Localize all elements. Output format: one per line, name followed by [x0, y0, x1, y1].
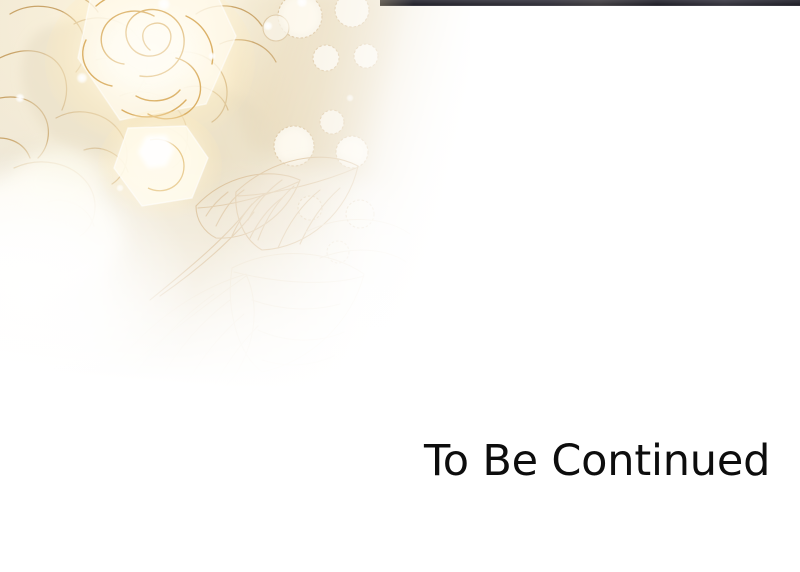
to-be-continued-caption: To Be Continued [424, 440, 770, 483]
floral-artwork-svg [0, 0, 470, 400]
episode-end-card: To Be Continued [0, 0, 800, 572]
floral-artwork [0, 0, 470, 400]
top-dark-strip [380, 0, 800, 6]
